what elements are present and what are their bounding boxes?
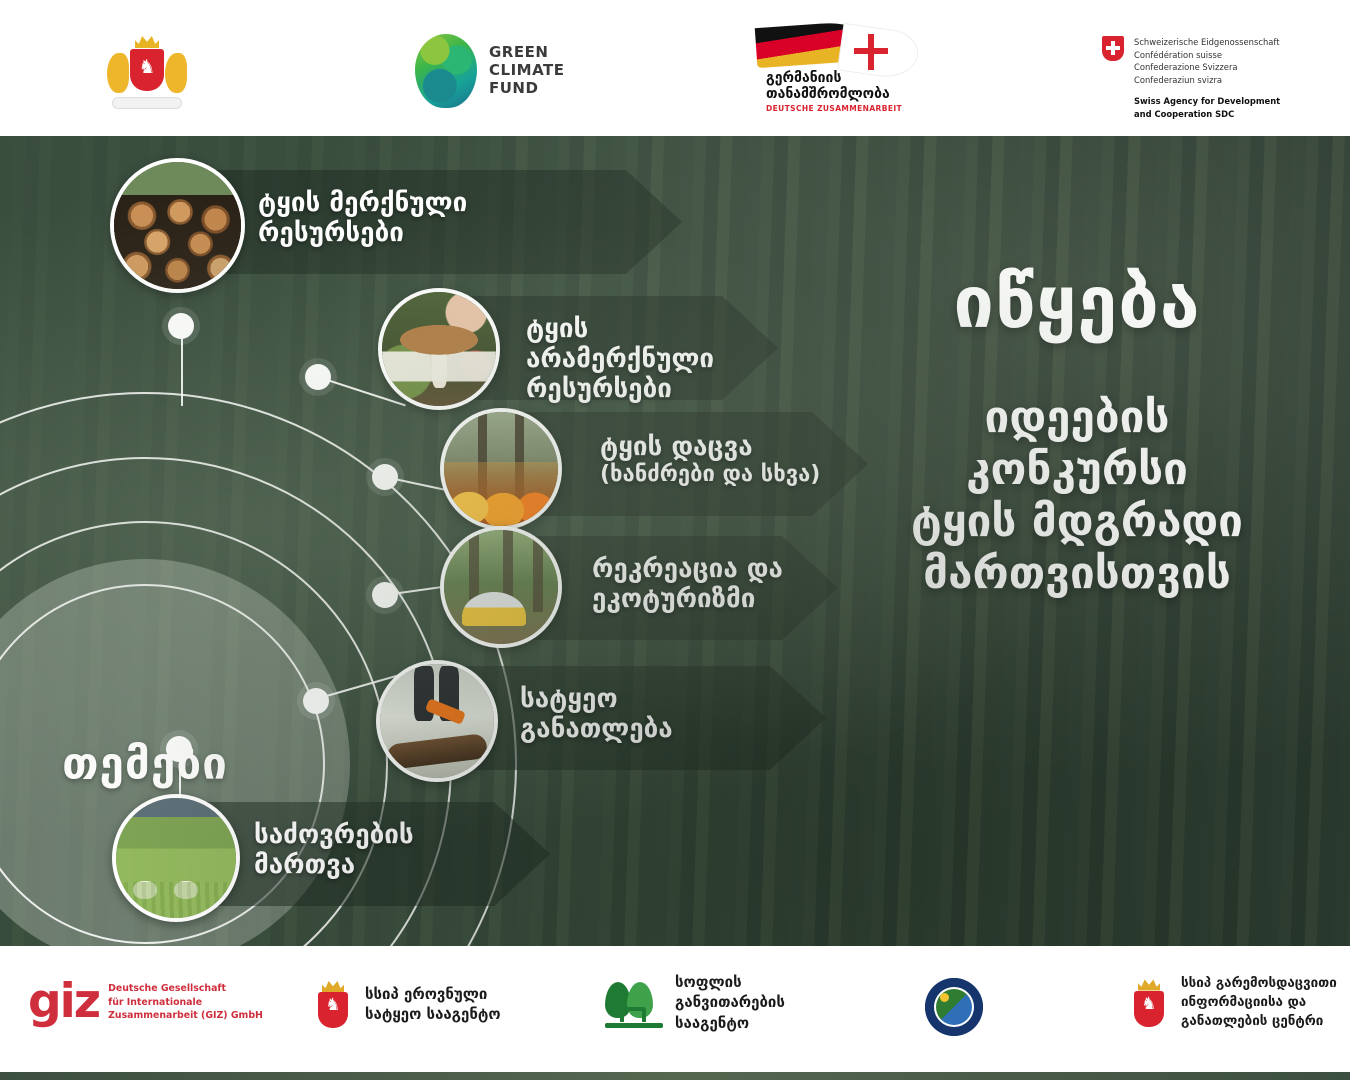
headline-sub-line-2: კონკურსი bbox=[842, 444, 1312, 496]
headline-sub-line-3: ტყის მდგრადი bbox=[842, 496, 1312, 548]
bottom-accent-strip bbox=[0, 1072, 1350, 1080]
cut-log bbox=[386, 733, 489, 770]
sheep-right bbox=[174, 881, 198, 899]
bottom-partner-bar: giz Deutsche Gesellschaft für Internatio… bbox=[0, 946, 1350, 1072]
rural-development-name: სოფლის განვითარების სააგენტო bbox=[675, 972, 785, 1033]
swiss-confederation-names: Schweizerische Eidgenossenschaft Confédé… bbox=[1134, 36, 1280, 86]
gcf-line-1: GREEN bbox=[489, 44, 565, 62]
topic-photo-5[interactable] bbox=[376, 660, 498, 782]
headline-subtitle: იდეების კონკურსი ტყის მდგრადი მართვისთვი… bbox=[842, 392, 1312, 600]
two-trees-house-icon bbox=[605, 976, 663, 1028]
node-topic-5 bbox=[303, 688, 329, 714]
main-forest-panel: თემები ტყის მერქნული რესურსები bbox=[0, 136, 1350, 946]
gcf-line-3: FUND bbox=[489, 80, 565, 98]
gcf-wordmark: GREEN CLIMATE FUND bbox=[489, 44, 565, 97]
swiss-agency-line-1: Swiss Agency for Development bbox=[1134, 95, 1280, 108]
chainsaw-training-photo bbox=[380, 664, 494, 778]
env-center-line-1: სსიპ გარემოსდაცვითი bbox=[1181, 974, 1337, 993]
swiss-cross-icon bbox=[1102, 36, 1124, 61]
rural-development-line-1: სოფლის bbox=[675, 972, 785, 992]
swiss-line-it: Confederazione Svizzera bbox=[1134, 61, 1280, 74]
ground-bar bbox=[605, 1023, 663, 1028]
georgia-coat-of-arms-logo: ♞ bbox=[105, 25, 189, 111]
german-cooperation-title: გერმანიის თანამშრომლობა bbox=[766, 70, 890, 102]
swiss-line-fr: Confédération suisse bbox=[1134, 49, 1280, 62]
ministry-seal-icon bbox=[925, 978, 983, 1036]
camping-tent-photo bbox=[444, 530, 558, 644]
forestry-agency-line-2: სატყეო სააგენტო bbox=[365, 1004, 501, 1024]
topic-label-3-line-2: (ხანძრები და სხვა) bbox=[600, 462, 870, 488]
rural-development-agency-logo: სოფლის განვითარების სააგენტო bbox=[605, 972, 785, 1033]
georgia-coat-of-arms-small-icon: ♞ bbox=[312, 978, 354, 1030]
topic-label-2-line-2: რესურსები bbox=[526, 374, 672, 404]
env-center-line-3: განათლების ცენტრი bbox=[1181, 1012, 1337, 1031]
headline-sub-line-4: მართვისთვის bbox=[842, 548, 1312, 600]
georgian-cross-horizontal bbox=[854, 48, 888, 54]
forest-fire-photo bbox=[444, 412, 558, 526]
topic-label-1: ტყის მერქნული რესურსები bbox=[258, 188, 588, 248]
st-george-horse-icon: ♞ bbox=[136, 55, 158, 79]
topic-photo-1[interactable] bbox=[110, 158, 245, 293]
giz-logo: giz Deutsche Gesellschaft für Internatio… bbox=[28, 982, 263, 1023]
topic-label-6-line-2: მართვა bbox=[254, 850, 355, 880]
headline-sub-line-1: იდეების bbox=[842, 392, 1312, 444]
lion-right-icon bbox=[165, 53, 187, 93]
giz-line-1: Deutsche Gesellschaft bbox=[108, 982, 263, 996]
german-cooperation-logo: გერმანიის თანამშრომლობა DEUTSCHE ZUSAMME… bbox=[748, 22, 928, 114]
swiss-sdc-logo: Schweizerische Eidgenossenschaft Confédé… bbox=[1102, 36, 1280, 121]
seal-inner-emblem bbox=[934, 987, 974, 1027]
crown-small-icon bbox=[322, 980, 344, 992]
env-center-line-2: ინფორმაციისა და bbox=[1181, 993, 1337, 1012]
tent-trunk-3 bbox=[533, 530, 543, 612]
topic-label-5-line-1: სატყეო bbox=[520, 684, 618, 714]
topic-label-5-line-2: განათლება bbox=[520, 714, 673, 744]
topic-label-6-line-1: საძოვრების bbox=[254, 820, 414, 850]
swiss-text-block: Schweizerische Eidgenossenschaft Confédé… bbox=[1134, 36, 1280, 121]
st-george-horse-small-icon: ♞ bbox=[325, 997, 340, 1014]
topic-label-1-line-2: რესურსები bbox=[258, 218, 404, 248]
gcf-line-2: CLIMATE bbox=[489, 62, 565, 80]
swiss-agency-line-2: and Cooperation SDC bbox=[1134, 108, 1280, 121]
giz-wordmark: giz bbox=[28, 983, 99, 1022]
german-cooperation-mark: გერმანიის თანამშრომლობა DEUTSCHE ZUSAMME… bbox=[748, 22, 928, 114]
topic-photo-4[interactable] bbox=[440, 526, 562, 648]
mushroom-picking-photo bbox=[382, 292, 496, 406]
topic-label-5: სატყეო განათლება bbox=[520, 684, 810, 744]
poster-root: ♞ GREEN CLIMATE FUND გერმანიის თანამშრომ… bbox=[0, 0, 1350, 1080]
giz-line-2: für Internationale bbox=[108, 996, 263, 1010]
worker-leg-left bbox=[414, 666, 433, 721]
georgia-coat-of-arms-center-icon: ♞ bbox=[1128, 977, 1170, 1029]
giz-line-3: Zusammenarbeit (GIZ) GmbH bbox=[108, 1009, 263, 1023]
rural-development-line-3: სააგენტო bbox=[675, 1013, 785, 1033]
german-cooperation-line-2: თანამშრომლობა bbox=[766, 86, 890, 102]
gcf-globe-icon bbox=[415, 34, 477, 108]
env-center-name: სსიპ გარემოსდაცვითი ინფორმაციისა და განა… bbox=[1181, 974, 1337, 1031]
seal-sun-icon bbox=[940, 993, 949, 1002]
crown-center-icon bbox=[1138, 979, 1160, 991]
swiss-line-de: Schweizerische Eidgenossenschaft bbox=[1134, 36, 1280, 49]
topic-label-4: რეკრეაცია და ეკოტურიზმი bbox=[592, 554, 852, 614]
house-icon bbox=[620, 1007, 646, 1022]
st-george-horse-center-icon: ♞ bbox=[1141, 996, 1156, 1013]
topic-label-2-line-1: ტყის არამერქნული bbox=[526, 314, 714, 374]
fire-trunk-right bbox=[515, 412, 524, 526]
ministry-seal-logo bbox=[925, 978, 983, 1036]
fire-trunk-left bbox=[478, 412, 487, 526]
rural-development-line-2: განვითარების bbox=[675, 992, 785, 1012]
topic-label-1-line-1: ტყის მერქნული bbox=[258, 188, 467, 218]
top-donor-bar: ♞ GREEN CLIMATE FUND გერმანიის თანამშრომ… bbox=[0, 0, 1350, 136]
topic-label-6: საძოვრების მართვა bbox=[254, 820, 534, 880]
page-title: იწყება bbox=[842, 266, 1312, 338]
stacked-logs-photo bbox=[114, 162, 241, 289]
motto-ribbon bbox=[112, 97, 182, 109]
forestry-agency-line-1: სსიპ ეროვნული bbox=[365, 984, 501, 1004]
swiss-agency-name: Swiss Agency for Development and Coopera… bbox=[1134, 95, 1280, 120]
german-cooperation-tagline: DEUTSCHE ZUSAMMENARBEIT bbox=[766, 104, 902, 113]
topic-photo-2[interactable] bbox=[378, 288, 500, 410]
lion-left-icon bbox=[107, 53, 129, 93]
connector-1 bbox=[181, 326, 183, 406]
sheep-pasture-photo bbox=[116, 798, 236, 918]
topic-label-4-line-2: ეკოტურიზმი bbox=[592, 584, 755, 614]
forestry-agency-name: სსიპ ეროვნული სატყეო სააგენტო bbox=[365, 984, 501, 1025]
topic-label-2: ტყის არამერქნული რესურსები bbox=[526, 314, 776, 404]
german-cooperation-line-1: გერმანიის bbox=[766, 70, 890, 86]
topic-photo-6[interactable] bbox=[112, 794, 240, 922]
topic-photo-3[interactable] bbox=[440, 408, 562, 530]
headline-block: იწყება იდეების კონკურსი ტყის მდგრადი მარ… bbox=[842, 266, 1312, 600]
environmental-info-center-logo: ♞ სსიპ გარემოსდაცვითი ინფორმაციისა და გა… bbox=[1128, 974, 1337, 1031]
topic-label-3: ტყის დაცვა (ხანძრები და სხვა) bbox=[600, 432, 870, 488]
topic-label-4-line-1: რეკრეაცია და bbox=[592, 554, 783, 584]
crown-icon bbox=[135, 35, 159, 48]
national-forestry-agency-logo: ♞ სსიპ ეროვნული სატყეო სააგენტო bbox=[312, 978, 501, 1030]
swiss-line-rm: Confederaziun svizra bbox=[1134, 74, 1280, 87]
topic-label-3-line-1: ტყის დაცვა bbox=[600, 432, 753, 462]
green-climate-fund-logo: GREEN CLIMATE FUND bbox=[415, 34, 565, 108]
mushroom-stem bbox=[432, 349, 447, 388]
georgia-coat-of-arms-icon: ♞ bbox=[105, 25, 189, 111]
giz-full-name: Deutsche Gesellschaft für Internationale… bbox=[108, 982, 263, 1023]
sheep-left bbox=[133, 881, 157, 899]
